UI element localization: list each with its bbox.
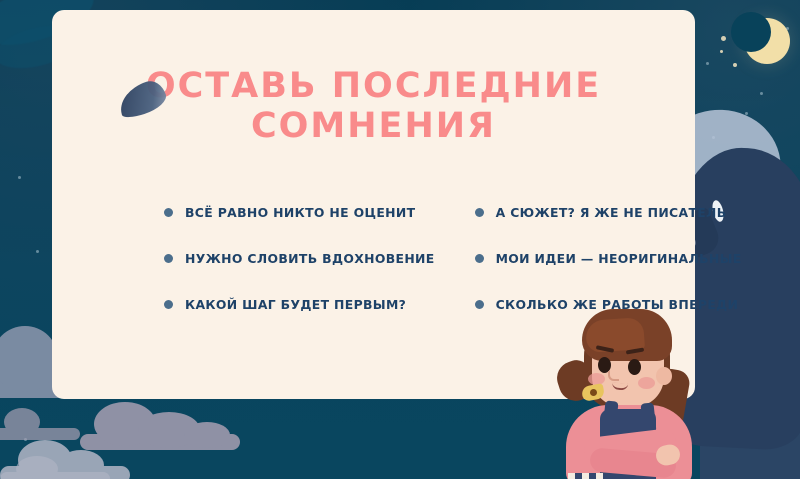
star-icon [720, 50, 723, 53]
doubts-right-column: А сюжет? Я же не писатель Мои идеи — нео… [475, 202, 742, 315]
girl-striped-sleeve [568, 473, 608, 479]
list-item: А сюжет? Я же не писатель [475, 202, 742, 223]
star-icon [721, 36, 726, 41]
girl-ear [656, 367, 672, 385]
girl-nose [608, 371, 619, 381]
bullet-dot-icon [164, 254, 173, 263]
list-item: Всё равно никто не оценит [164, 202, 435, 223]
list-item: Нужно словить вдохновение [164, 248, 435, 269]
page-title-line-1: Оставь последние [146, 66, 601, 106]
slide-canvas: Оставь последние сомнения Всё равно никт… [0, 0, 800, 479]
bullet-dot-icon [164, 208, 173, 217]
doubts-list: Всё равно никто не оценит Нужно словить … [164, 202, 684, 315]
list-item-label: Нужно словить вдохновение [185, 251, 435, 266]
list-item-label: Какой шаг будет первым? [185, 297, 406, 312]
list-item: Какой шаг будет первым? [164, 294, 435, 315]
bullet-dot-icon [475, 254, 484, 263]
crescent-moon-icon [744, 18, 790, 64]
star-icon [36, 250, 39, 253]
star-icon [733, 63, 737, 67]
skeptical-girl-character [560, 305, 710, 479]
list-item: Мои идеи — неоригинальные [475, 248, 742, 269]
star-icon [18, 176, 21, 179]
list-item-label: Всё равно никто не оценит [185, 205, 415, 220]
girl-cheek-right [638, 377, 655, 389]
bullet-dot-icon [475, 208, 484, 217]
cloud-icon [0, 406, 80, 442]
list-item-label: Мои идеи — неоригинальные [496, 251, 742, 266]
girl-eye-right [628, 359, 641, 375]
star-icon [760, 92, 763, 95]
bullet-dot-icon [475, 300, 484, 309]
girl-brooch-center [590, 389, 597, 396]
moon-crescent-cutout [731, 12, 771, 52]
doubts-left-column: Всё равно никто не оценит Нужно словить … [164, 202, 435, 315]
list-item-label: А сюжет? Я же не писатель [496, 205, 727, 220]
bullet-dot-icon [164, 300, 173, 309]
star-icon [786, 27, 789, 30]
girl-fringe [585, 317, 645, 353]
cloud-icon [0, 456, 110, 479]
star-icon [706, 62, 709, 65]
